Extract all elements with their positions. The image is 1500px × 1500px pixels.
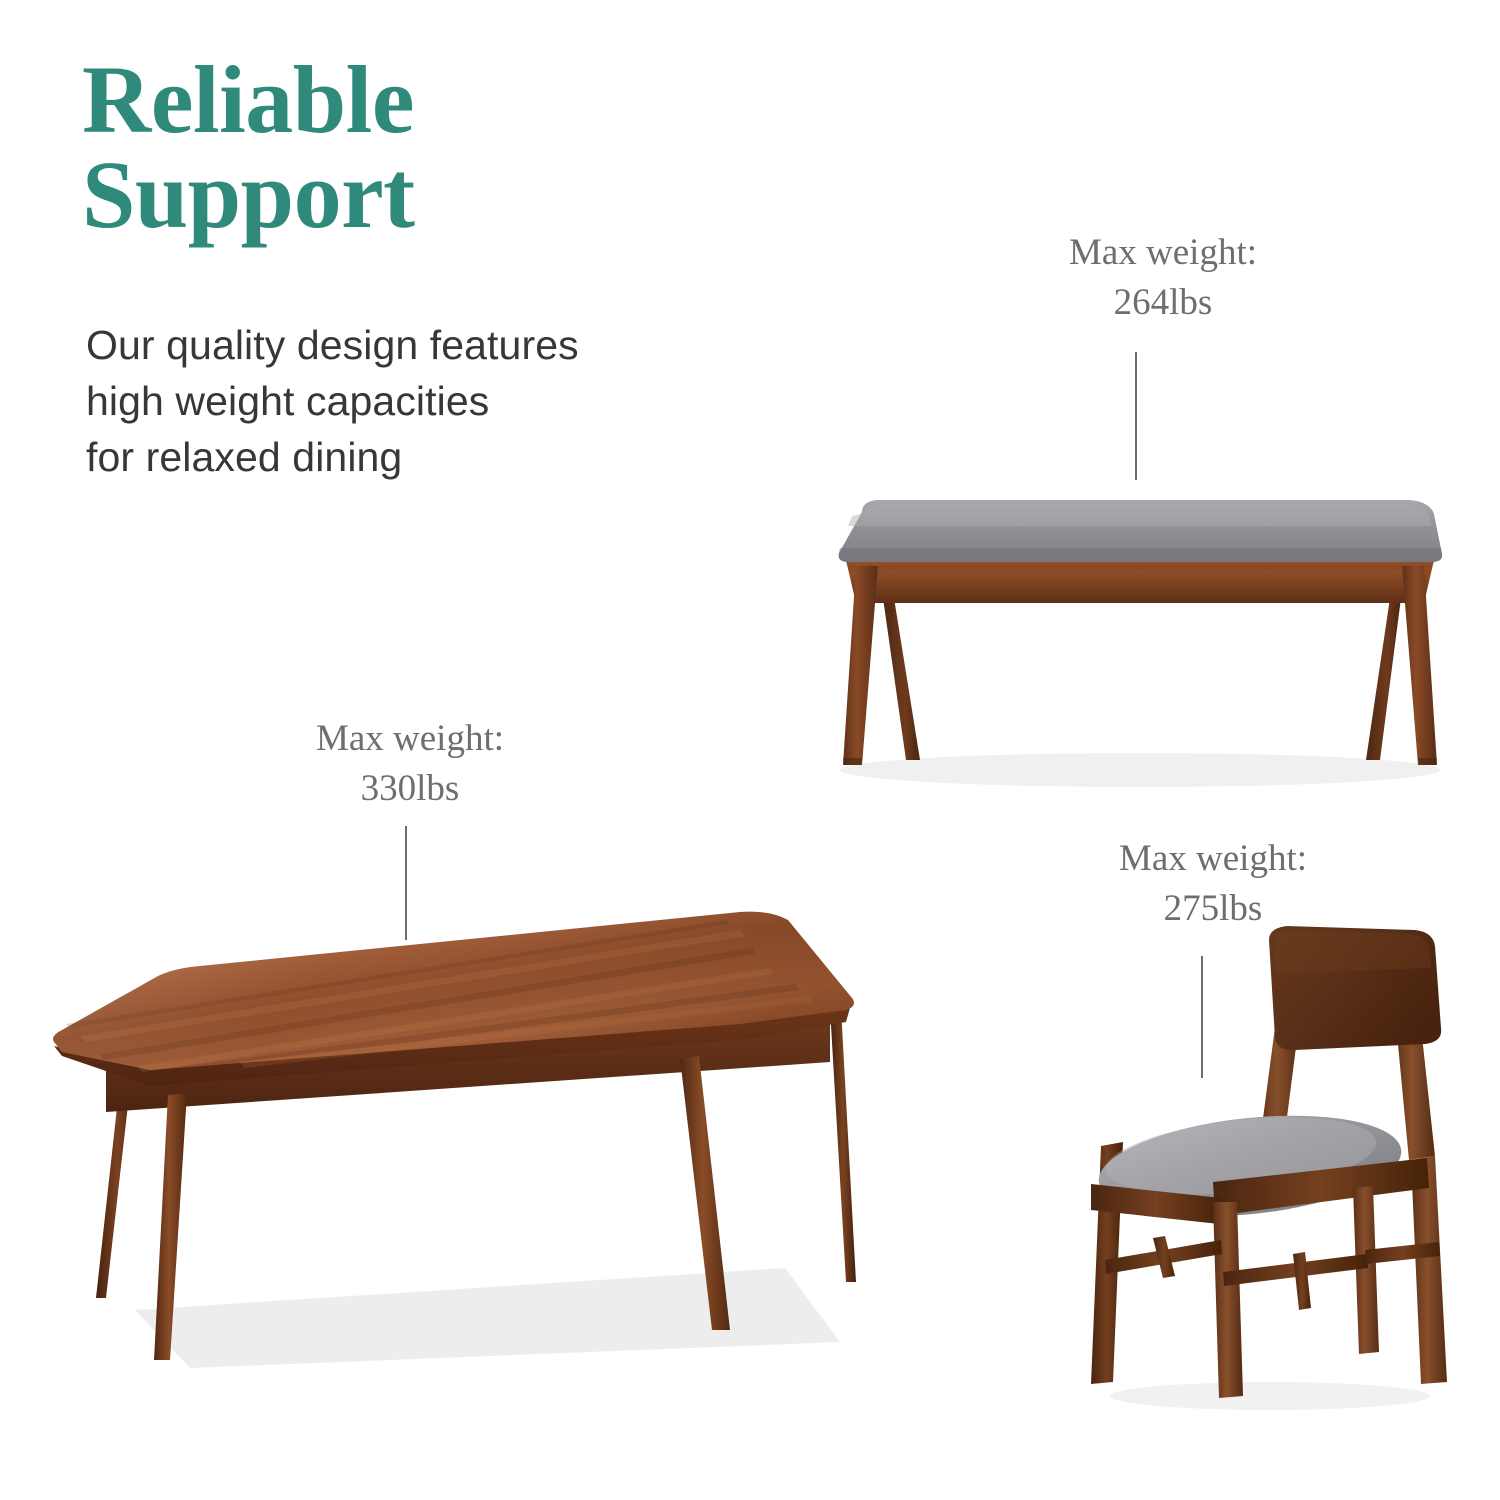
- chair-back-panel-highlight: [1273, 930, 1431, 974]
- bench-illustration: [790, 470, 1490, 800]
- bench-leader-line: [1135, 352, 1137, 480]
- table-illustration: [40, 890, 920, 1370]
- bench-seat-shadow-edge: [839, 548, 1442, 562]
- bench-rear-leg-left: [883, 598, 920, 760]
- infographic-canvas: Reliable Support Our quality design feat…: [0, 0, 1500, 1500]
- chair-stretcher-center-brace: [1293, 1252, 1311, 1310]
- bench-floor-shadow: [840, 753, 1440, 787]
- bench-seat-highlight: [848, 504, 1432, 526]
- bench-rear-leg-right: [1366, 598, 1401, 760]
- page-title: Reliable Support: [82, 52, 722, 242]
- table-max-weight-label: Max weight: 330lbs: [250, 714, 570, 815]
- page-subtitle: Our quality design features high weight …: [86, 318, 746, 485]
- bench-max-weight-label: Max weight: 264lbs: [1003, 228, 1323, 329]
- table-leader-line: [405, 826, 407, 940]
- bench-front-leg-right: [1402, 566, 1437, 765]
- chair-illustration: [1055, 920, 1475, 1420]
- chair-leader-line: [1201, 956, 1203, 1078]
- chair-leg-front-left: [1213, 1202, 1243, 1398]
- chair-max-weight-label: Max weight: 275lbs: [1053, 834, 1373, 935]
- bench-foot-right: [1418, 758, 1437, 765]
- bench-foot-left: [843, 758, 862, 765]
- chair-floor-shadow: [1110, 1382, 1430, 1410]
- table-leg-rear-right: [830, 1008, 856, 1282]
- chair-leg-front-right: [1353, 1186, 1379, 1354]
- chair-leg-rear-right: [1411, 1156, 1447, 1384]
- bench-front-leg-left: [843, 566, 878, 765]
- table-floor-shadow: [135, 1268, 840, 1368]
